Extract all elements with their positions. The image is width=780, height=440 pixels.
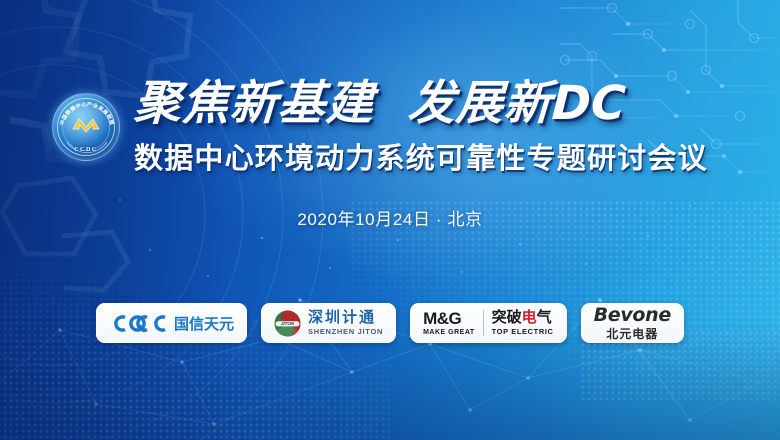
bevone-chinese-name: 北元电器 (594, 328, 671, 340)
svg-text:JITON: JITON (281, 321, 295, 326)
ccdc-emblem-logo: 中国数据中心产业发展联盟 CCDC (52, 93, 120, 161)
sponsor-pill-top-electric[interactable]: M&G MAKE GREAT 突破电气 TOP ELECTRIC (410, 303, 566, 343)
jiton-english-name: SHENZHEN JITON (308, 328, 383, 336)
emblem-acronym: CCDC (53, 147, 119, 153)
sponsor-logo-row: 国信天元 JITON 深圳计通 (0, 303, 780, 343)
main-title-left: 聚焦新基建 (133, 76, 376, 129)
emblem-chevron-mark-icon (71, 114, 101, 136)
tp-cn-part2: 电 (522, 309, 537, 326)
poster-content: 中国数据中心产业发展联盟 CCDC 聚焦新基建发展新DC 数据中心环境动力系统可… (0, 0, 780, 440)
jiton-mark-icon: JITON (274, 310, 301, 337)
title-block: 聚焦新基建发展新DC 数据中心环境动力系统可靠性专题研讨会议 (134, 78, 708, 177)
mg-mark-subtitle: MAKE GREAT (423, 329, 475, 336)
date-location-line: 2020年10月24日 · 北京 (0, 205, 780, 230)
mg-mark: M&G (423, 310, 475, 327)
main-title-right-cn: 发展新 (407, 76, 554, 129)
subtitle: 数据中心环境动力系统可靠性专题研讨会议 (134, 135, 708, 177)
main-title-right-latin: DC (551, 76, 627, 131)
top-electric-english-name: TOP ELECTRIC (492, 328, 554, 336)
jiton-chinese-name: 深圳计通 (308, 310, 383, 325)
main-title: 聚焦新基建发展新DC (133, 78, 709, 129)
conference-poster: 中国数据中心产业发展联盟 CCDC 聚焦新基建发展新DC 数据中心环境动力系统可… (0, 0, 780, 440)
sponsor-pill-cqc[interactable]: 国信天元 (96, 303, 247, 343)
cqc-chinese-name: 国信天元 (174, 313, 234, 334)
mg-divider (483, 310, 484, 336)
sponsor-pill-jiton[interactable]: JITON 深圳计通 SHENZHEN JITON (261, 303, 396, 343)
tp-cn-part1: 突破 (492, 309, 522, 326)
sponsor-pill-bevone[interactable]: Bevone 北元电器 (581, 303, 684, 343)
top-electric-chinese-name: 突破电气 (492, 310, 554, 325)
cqc-mark-icon (109, 313, 169, 334)
headline-row: 中国数据中心产业发展联盟 CCDC 聚焦新基建发展新DC 数据中心环境动力系统可… (52, 78, 708, 177)
tp-cn-part3: 气 (537, 309, 552, 326)
bevone-mark: Bevone (594, 306, 671, 325)
